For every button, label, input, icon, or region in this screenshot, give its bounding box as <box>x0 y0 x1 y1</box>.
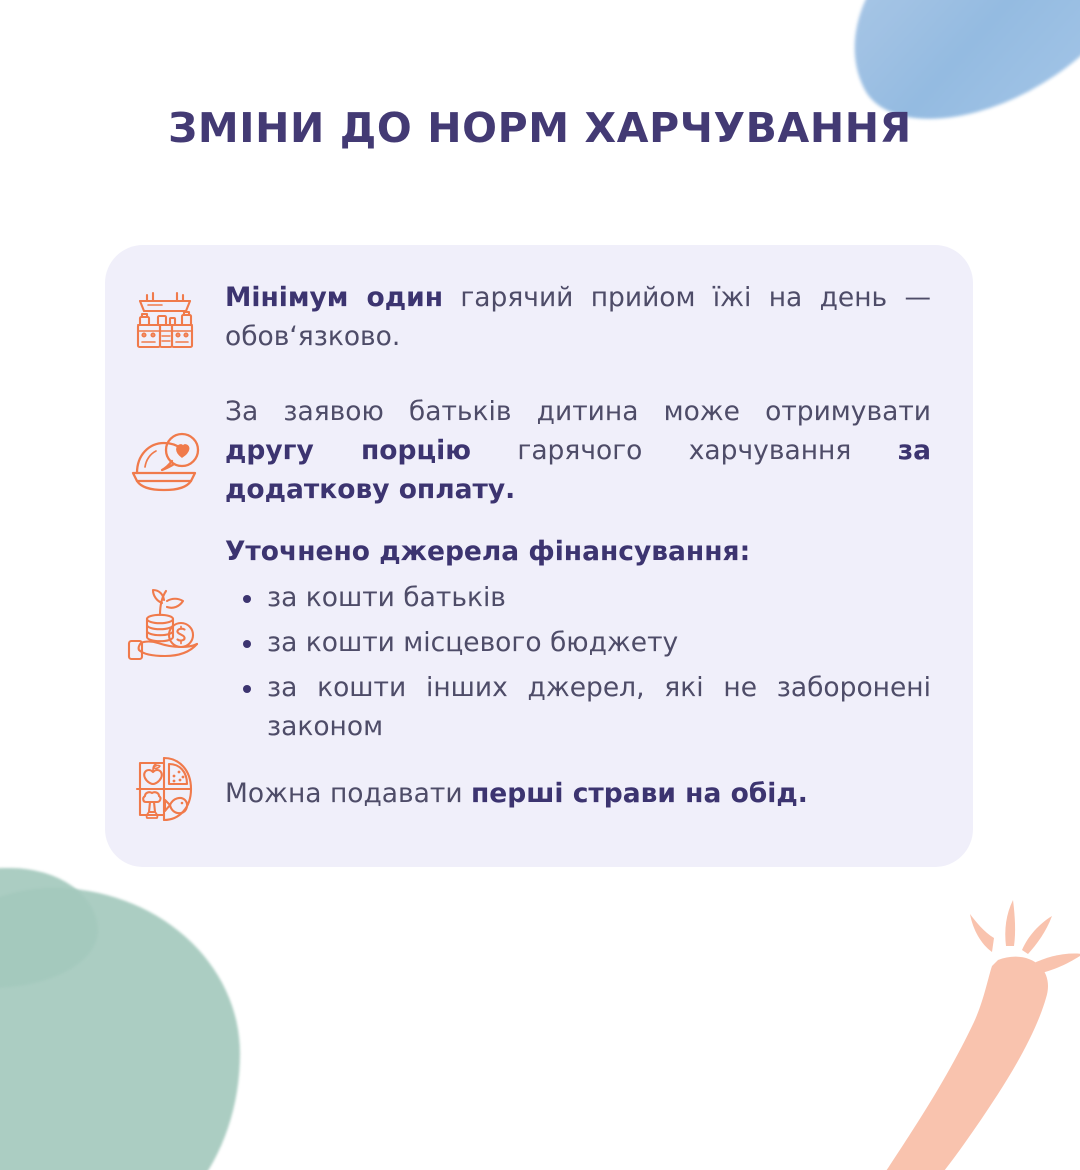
item-text-regular: гарячого харчування <box>471 435 898 466</box>
list-item: Мінімум один гарячий прийом їжі на день … <box>105 279 973 357</box>
list-item: за кошти інших джерел, які не заборонені… <box>267 669 931 747</box>
list-heading: Уточнено джерела фінансування: <box>225 533 931 572</box>
green-blob-decoration <box>0 888 240 1170</box>
item-text-bold: перші страви на обід. <box>471 778 808 809</box>
food-dome-heart-icon <box>105 393 225 497</box>
item-text: Можна подавати перші страви на обід. <box>225 750 931 814</box>
card-rows: Мінімум один гарячий прийом їжі на день … <box>105 245 973 867</box>
funding-sources-list: за кошти батьків за кошти місцевого бюдж… <box>225 579 931 747</box>
list-item: Уточнено джерела фінансування: за кошти … <box>105 533 973 747</box>
item-text: За заявою батьків дитина може отримувати… <box>225 393 931 510</box>
green-blob-small-decoration <box>0 868 98 988</box>
item-text-regular: Можна подавати <box>225 778 471 809</box>
list-item: Можна подавати перші страви на обід. <box>105 750 973 828</box>
list-item: за кошти місцевого бюджету <box>267 624 931 663</box>
item-text-regular: За заявою батьків дитина може отримувати <box>225 396 931 427</box>
item-text-bold: Мінімум один <box>225 282 443 313</box>
food-plate-quadrants-icon <box>105 750 225 828</box>
page-title: ЗМІНИ ДО НОРМ ХАРЧУВАННЯ <box>0 104 1080 152</box>
item-text-bold: другу порцію <box>225 435 471 466</box>
list-item: за кошти батьків <box>267 579 931 618</box>
hand-coins-plant-icon <box>105 533 225 661</box>
item-text: Уточнено джерела фінансування: за кошти … <box>225 533 931 747</box>
carrot-silhouette-decoration <box>880 880 1080 1170</box>
list-item: За заявою батьків дитина може отримувати… <box>105 393 973 510</box>
kitchen-counter-icon <box>105 279 225 353</box>
item-text: Мінімум один гарячий прийом їжі на день … <box>225 279 931 357</box>
content-card: Мінімум один гарячий прийом їжі на день … <box>105 245 973 867</box>
